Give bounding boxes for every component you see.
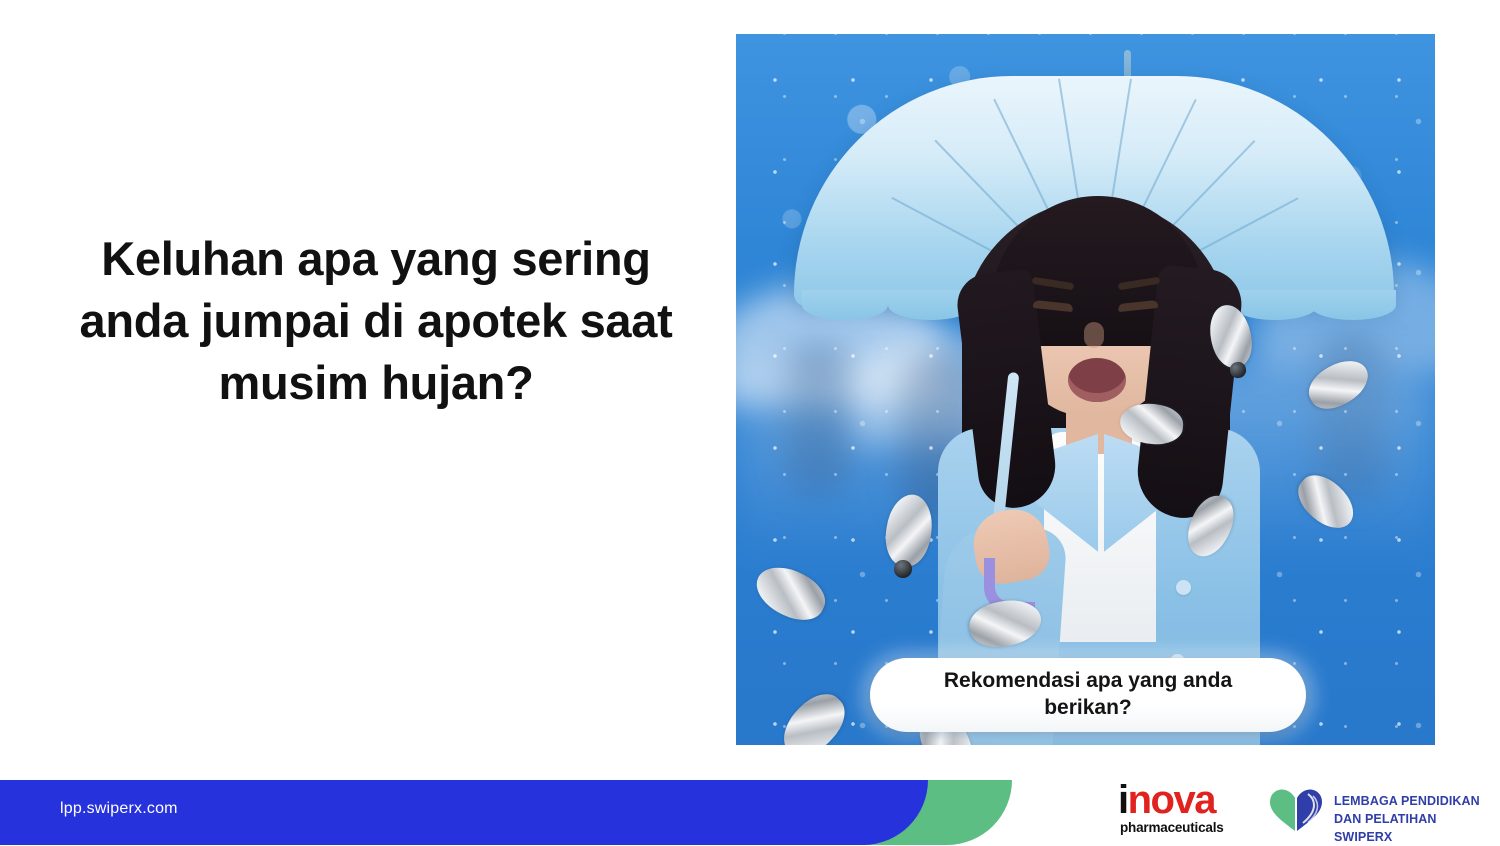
slide-canvas: Keluhan apa yang sering anda jumpai di a… — [0, 0, 1500, 845]
nose — [1084, 322, 1104, 348]
heart-book-icon — [1268, 788, 1324, 832]
metallic-flower-icon — [1160, 292, 1317, 449]
inova-logo: inova pharmaceuticals — [1118, 782, 1258, 840]
inova-wordmark: inova — [1118, 780, 1215, 820]
flower-center — [893, 559, 912, 578]
inova-rest: nova — [1128, 778, 1215, 822]
lpp-wordmark: LEMBAGA PENDIDIKAN DAN PELATIHAN SWIPERX — [1334, 792, 1490, 846]
flower-center — [1229, 361, 1247, 379]
hero-photo: Rekomendasi apa yang anda berikan? — [736, 34, 1435, 745]
lpp-swiperx-logo: LEMBAGA PENDIDIKAN DAN PELATIHAN SWIPERX — [1268, 786, 1490, 836]
inova-tagline: pharmaceuticals — [1120, 820, 1224, 835]
metallic-flower-icon — [818, 484, 987, 653]
open-mouth — [1068, 358, 1126, 402]
coat-button — [1176, 580, 1191, 595]
page-title: Keluhan apa yang sering anda jumpai di a… — [40, 228, 712, 414]
inova-initial: i — [1118, 778, 1128, 822]
speech-bubble: Rekomendasi apa yang anda berikan? — [870, 658, 1306, 732]
footer-url[interactable]: lpp.swiperx.com — [60, 800, 178, 818]
